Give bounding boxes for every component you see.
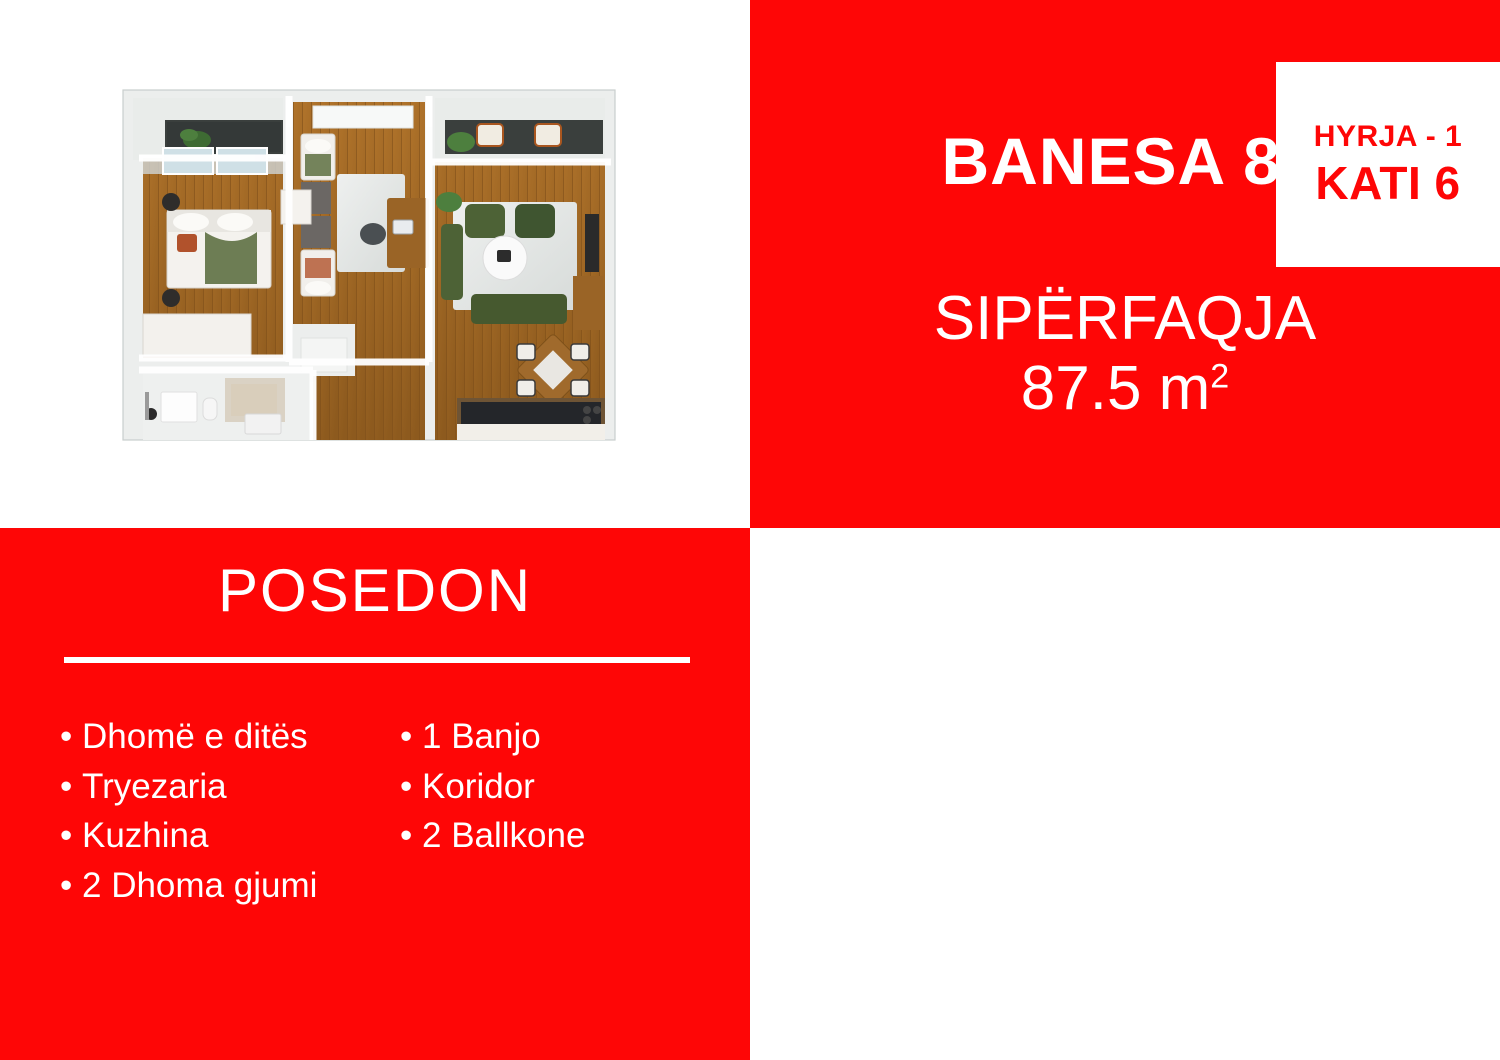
render-dining <box>516 333 590 407</box>
feature-column-left: •Dhomë e ditës •Tryezaria •Kuzhina •2 Dh… <box>60 712 400 911</box>
floor-plan-info-sheet: BANESA 82 HYRJA - 1 KATI 6 SIPËRFAQJA 87… <box>0 0 1500 1060</box>
bullet-icon: • <box>60 861 82 911</box>
list-item: •Koridor <box>400 762 730 812</box>
surface-area-label: SIPËRFAQJA <box>750 286 1500 352</box>
bullet-icon: • <box>400 712 422 762</box>
list-item: •2 Dhoma gjumi <box>60 861 400 911</box>
bullet-icon: • <box>60 811 82 861</box>
list-item: •2 Ballkone <box>400 811 730 861</box>
render-bathroom <box>143 374 313 440</box>
feature-label: 1 Banjo <box>422 717 541 756</box>
render-kitchen <box>457 398 605 440</box>
feature-label: 2 Ballkone <box>422 816 585 855</box>
bullet-icon: • <box>60 712 82 762</box>
list-item: •1 Banjo <box>400 712 730 762</box>
list-item: •Tryezaria <box>60 762 400 812</box>
surface-area-value: 87.5 m2 <box>750 352 1500 425</box>
feature-column-right: •1 Banjo •Koridor •2 Ballkone <box>400 712 730 911</box>
balcony-right <box>435 98 605 162</box>
feature-label: Tryezaria <box>82 767 227 806</box>
project-name: POSEDON <box>0 556 750 625</box>
surface-area-block: SIPËRFAQJA 87.5 m2 <box>750 286 1500 425</box>
render-quadrant <box>0 0 750 528</box>
title-divider <box>64 657 690 663</box>
feature-label: Kuzhina <box>82 816 208 855</box>
list-item: •Dhomë e ditës <box>60 712 400 762</box>
floor-label: KATI 6 <box>1315 156 1460 210</box>
surface-area-unit-exponent: 2 <box>1210 357 1229 395</box>
surface-area-number: 87.5 m <box>1021 354 1211 423</box>
entrance-label: HYRJA - 1 <box>1314 120 1462 154</box>
feature-list: •Dhomë e ditës •Tryezaria •Kuzhina •2 Dh… <box>60 712 740 911</box>
header-quadrant: BANESA 82 HYRJA - 1 KATI 6 SIPËRFAQJA 87… <box>750 0 1500 528</box>
bullet-icon: • <box>400 762 422 812</box>
feature-label: Koridor <box>422 767 535 806</box>
bullet-icon: • <box>60 762 82 812</box>
entrance-floor-badge: HYRJA - 1 KATI 6 <box>1276 62 1500 267</box>
list-item: •Kuzhina <box>60 811 400 861</box>
feature-label: Dhomë e ditës <box>82 717 308 756</box>
apartment-3d-render <box>105 62 635 462</box>
bullet-icon: • <box>400 811 422 861</box>
render-bedroom-left <box>143 148 283 358</box>
feature-label: 2 Dhoma gjumi <box>82 866 317 905</box>
technical-plan-quadrant: Ballkoni Ballkoni Dhomë gjumi Dhomë gjum… <box>750 528 1500 1060</box>
